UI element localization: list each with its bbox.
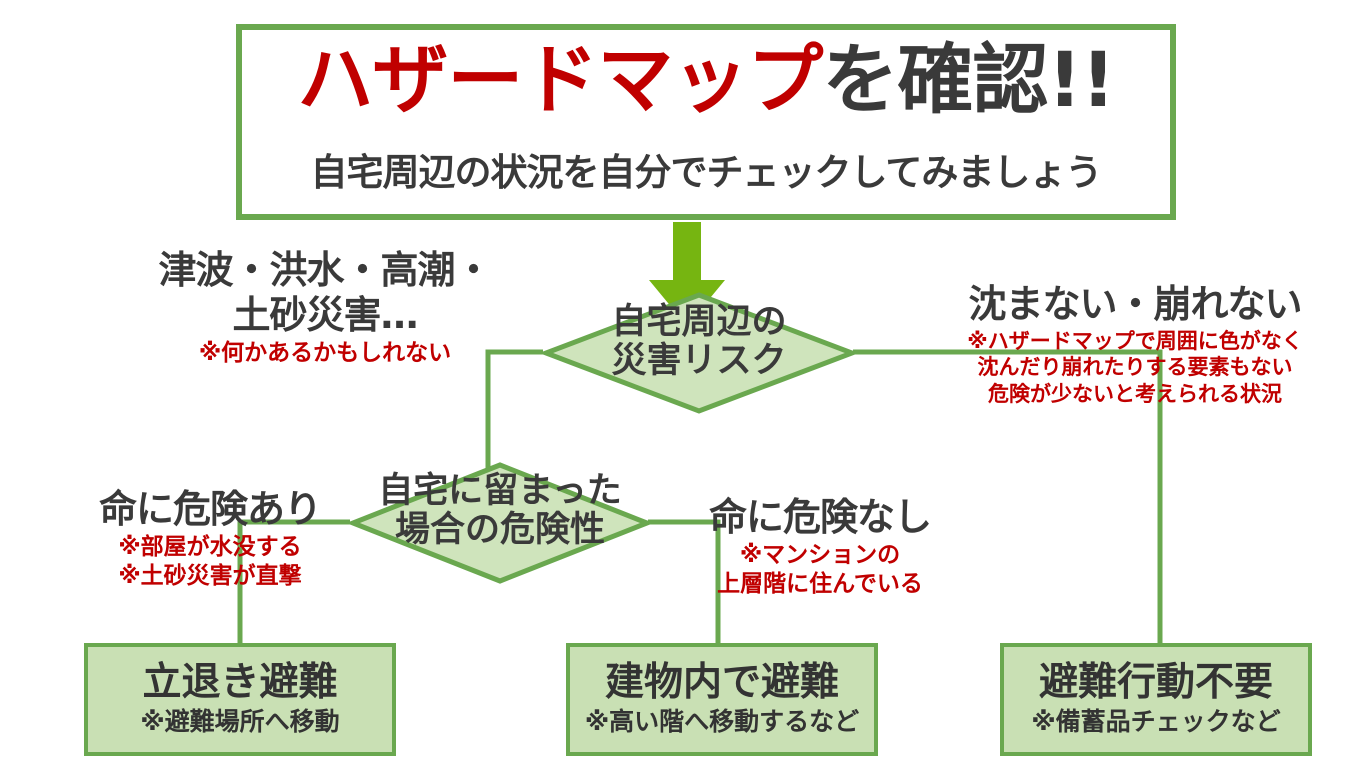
decision-risk-line2: 災害リスク bbox=[543, 342, 855, 381]
page-title-rest: を確認!! bbox=[822, 35, 1114, 124]
outcome-evacuate-out-title: 立退き避難 bbox=[142, 663, 337, 704]
outcome-shelter-in-place[interactable]: 建物内で避難 ※高い階へ移動するなど bbox=[566, 643, 878, 756]
outcome-shelter-in-place-title: 建物内で避難 bbox=[605, 663, 839, 704]
branch-hazard-absent-note2: 沈んだり崩れたりする要素もない bbox=[935, 355, 1335, 379]
page-title-highlight: ハザードマップ bbox=[297, 35, 822, 124]
branch-life-safe-line1: 命に危険なし bbox=[680, 495, 960, 540]
branch-hazard-absent-note1: ※ハザードマップで周囲に色がなく bbox=[935, 329, 1335, 353]
branch-hazard-absent: 沈まない・崩れない ※ハザードマップで周囲に色がなく 沈んだり崩れたりする要素も… bbox=[935, 282, 1335, 406]
outcome-evacuate-out[interactable]: 立退き避難 ※避難場所へ移動 bbox=[84, 643, 396, 756]
decision-stay-line2: 場合の危険性 bbox=[330, 511, 670, 550]
decision-stay-label: 自宅に留まった 場合の危険性 bbox=[330, 472, 670, 550]
page-title: ハザードマップを確認!! bbox=[242, 36, 1170, 123]
outcome-no-action-note: ※備蓄品チェックなど bbox=[1031, 708, 1280, 736]
title-banner: ハザードマップを確認!! 自宅周辺の状況を自分でチェックしてみましょう bbox=[236, 24, 1176, 220]
branch-life-danger-note1: ※部屋が水没する bbox=[60, 534, 360, 561]
branch-hazard-present-line1: 津波・洪水・高潮・ bbox=[140, 248, 510, 293]
flowchart-canvas: ハザードマップを確認!! 自宅周辺の状況を自分でチェックしてみましょう 自宅周辺… bbox=[0, 0, 1366, 768]
page-subtitle: 自宅周辺の状況を自分でチェックしてみましょう bbox=[242, 142, 1170, 196]
branch-life-safe-note2: 上層階に住んでいる bbox=[680, 571, 960, 598]
branch-life-danger-line1: 命に危険あり bbox=[60, 487, 360, 532]
branch-hazard-absent-line1: 沈まない・崩れない bbox=[935, 282, 1335, 327]
outcome-evacuate-out-note: ※避難場所へ移動 bbox=[140, 708, 339, 736]
decision-stay-line1: 自宅に留まった bbox=[330, 472, 670, 511]
branch-hazard-present-note1: ※何かあるかもしれない bbox=[140, 340, 510, 367]
branch-life-danger: 命に危険あり ※部屋が水没する ※土砂災害が直撃 bbox=[60, 487, 360, 589]
decision-risk-label: 自宅周辺の 災害リスク bbox=[543, 303, 855, 381]
branch-life-safe-note1: ※マンションの bbox=[680, 542, 960, 569]
outcome-shelter-in-place-note: ※高い階へ移動するなど bbox=[585, 708, 859, 736]
decision-risk-line1: 自宅周辺の bbox=[543, 303, 855, 342]
branch-life-safe: 命に危険なし ※マンションの 上層階に住んでいる bbox=[680, 495, 960, 597]
branch-life-danger-note2: ※土砂災害が直撃 bbox=[60, 563, 360, 590]
branch-hazard-present-line2: 土砂災害… bbox=[140, 293, 510, 338]
branch-hazard-present: 津波・洪水・高潮・ 土砂災害… ※何かあるかもしれない bbox=[140, 248, 510, 366]
outcome-no-action[interactable]: 避難行動不要 ※備蓄品チェックなど bbox=[1000, 643, 1312, 756]
outcome-no-action-title: 避難行動不要 bbox=[1039, 663, 1273, 704]
branch-hazard-absent-note3: 危険が少ないと考えられる状況 bbox=[935, 382, 1335, 406]
